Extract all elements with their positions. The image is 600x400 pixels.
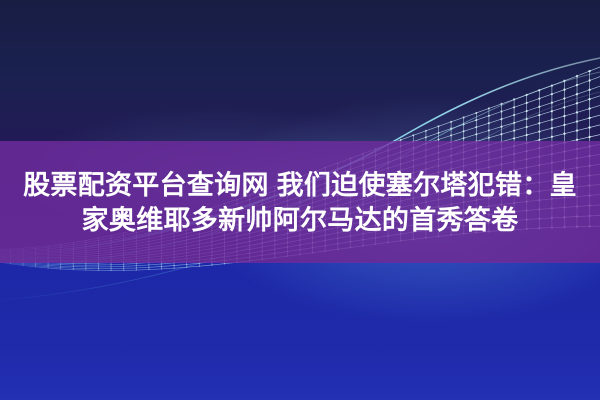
- banner-image: 股票配资平台查询网 我们迫使塞尔塔犯错：皇家奥维耶多新帅阿尔马达的首秀答卷: [0, 0, 600, 400]
- headline-text: 股票配资平台查询网 我们迫使塞尔塔犯错：皇家奥维耶多新帅阿尔马达的首秀答卷: [18, 168, 582, 238]
